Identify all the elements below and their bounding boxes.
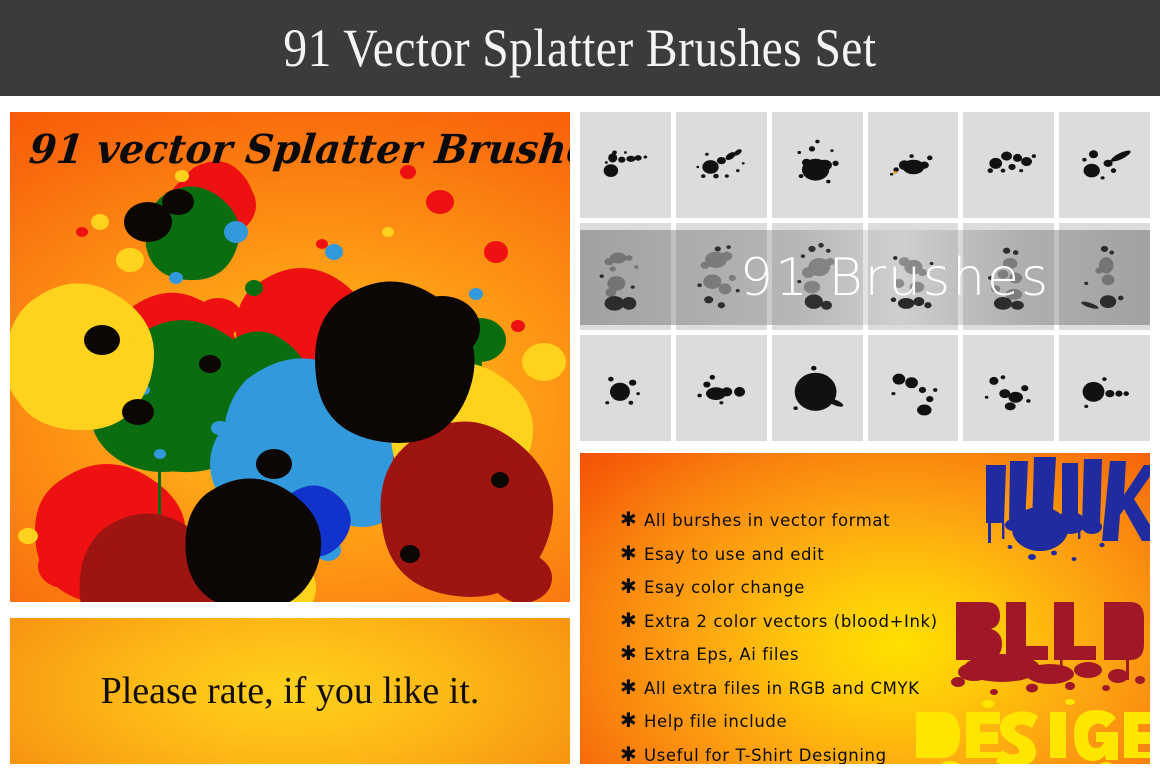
feature-item: ✱ All extra files in RGB and CMYK <box>620 677 980 698</box>
asterisk-bullet-icon: ✱ <box>620 643 644 663</box>
brush-tile[interactable] <box>1059 223 1150 329</box>
asterisk-bullet-icon: ✱ <box>620 576 644 596</box>
brush-tile[interactable] <box>868 112 959 218</box>
hero-splatter-artwork <box>10 112 570 602</box>
brush-tile[interactable] <box>1059 335 1150 441</box>
feature-label: Extra Eps, Ai files <box>644 645 799 664</box>
brush-grid-panel: 91 Brushes <box>580 112 1150 441</box>
feature-item: ✱ All burshes in vector format <box>620 509 980 530</box>
feature-item: ✱ Help file include <box>620 710 980 731</box>
brush-tile[interactable] <box>580 112 671 218</box>
brush-tile[interactable] <box>676 223 767 329</box>
brush-tile[interactable] <box>772 223 863 329</box>
brush-tile[interactable] <box>868 223 959 329</box>
hero-script-title: 91 vector Splatter Brushes Set <box>27 126 536 174</box>
feature-item: ✱ Extra Eps, Ai files <box>620 643 980 664</box>
brush-tile[interactable] <box>772 335 863 441</box>
features-panel: ✱ All burshes in vector format ✱ Esay to… <box>580 453 1150 764</box>
asterisk-bullet-icon: ✱ <box>620 710 644 730</box>
brush-tile[interactable] <box>580 223 671 329</box>
brush-grid <box>580 112 1150 441</box>
brush-tile[interactable] <box>676 335 767 441</box>
brush-tile[interactable] <box>676 112 767 218</box>
feature-label: Esay color change <box>644 578 805 597</box>
brush-tile[interactable] <box>963 223 1054 329</box>
rate-request-text: Please rate, if you like it. <box>101 671 480 711</box>
ink-decoration <box>974 453 1150 577</box>
asterisk-bullet-icon: ✱ <box>620 610 644 630</box>
feature-label: Useful for T-Shirt Designing <box>644 746 887 765</box>
asterisk-bullet-icon: ✱ <box>620 744 644 764</box>
asterisk-bullet-icon: ✱ <box>620 509 644 529</box>
feature-item: ✱ Esay color change <box>620 576 980 597</box>
brush-tile[interactable] <box>963 335 1054 441</box>
feature-label: All burshes in vector format <box>644 511 890 530</box>
page-title: 91 Vector Splatter Brushes Set <box>283 21 876 75</box>
feature-item: ✱ Useful for T-Shirt Designing <box>620 744 980 765</box>
feature-label: Extra 2 color vectors (blood+Ink) <box>644 612 938 631</box>
header-bar: 91 Vector Splatter Brushes Set <box>0 0 1160 96</box>
asterisk-bullet-icon: ✱ <box>620 677 644 697</box>
brush-tile[interactable] <box>1059 112 1150 218</box>
brush-tile[interactable] <box>580 335 671 441</box>
feature-item: ✱ Extra 2 color vectors (blood+Ink) <box>620 610 980 631</box>
feature-item: ✱ Esay to use and edit <box>620 543 980 564</box>
feature-label: All extra files in RGB and CMYK <box>644 679 920 698</box>
brush-tile[interactable] <box>772 112 863 218</box>
rate-request-panel: Please rate, if you like it. <box>10 618 570 764</box>
asterisk-bullet-icon: ✱ <box>620 543 644 563</box>
brush-tile[interactable] <box>963 112 1054 218</box>
feature-list: ✱ All burshes in vector format ✱ Esay to… <box>620 509 980 764</box>
hero-preview-panel: 91 vector Splatter Brushes Set <box>10 112 570 602</box>
brush-tile[interactable] <box>868 335 959 441</box>
poster-canvas: 91 Vector Splatter Brushes Set <box>0 0 1160 772</box>
feature-label: Help file include <box>644 712 787 731</box>
feature-label: Esay to use and edit <box>644 545 824 564</box>
